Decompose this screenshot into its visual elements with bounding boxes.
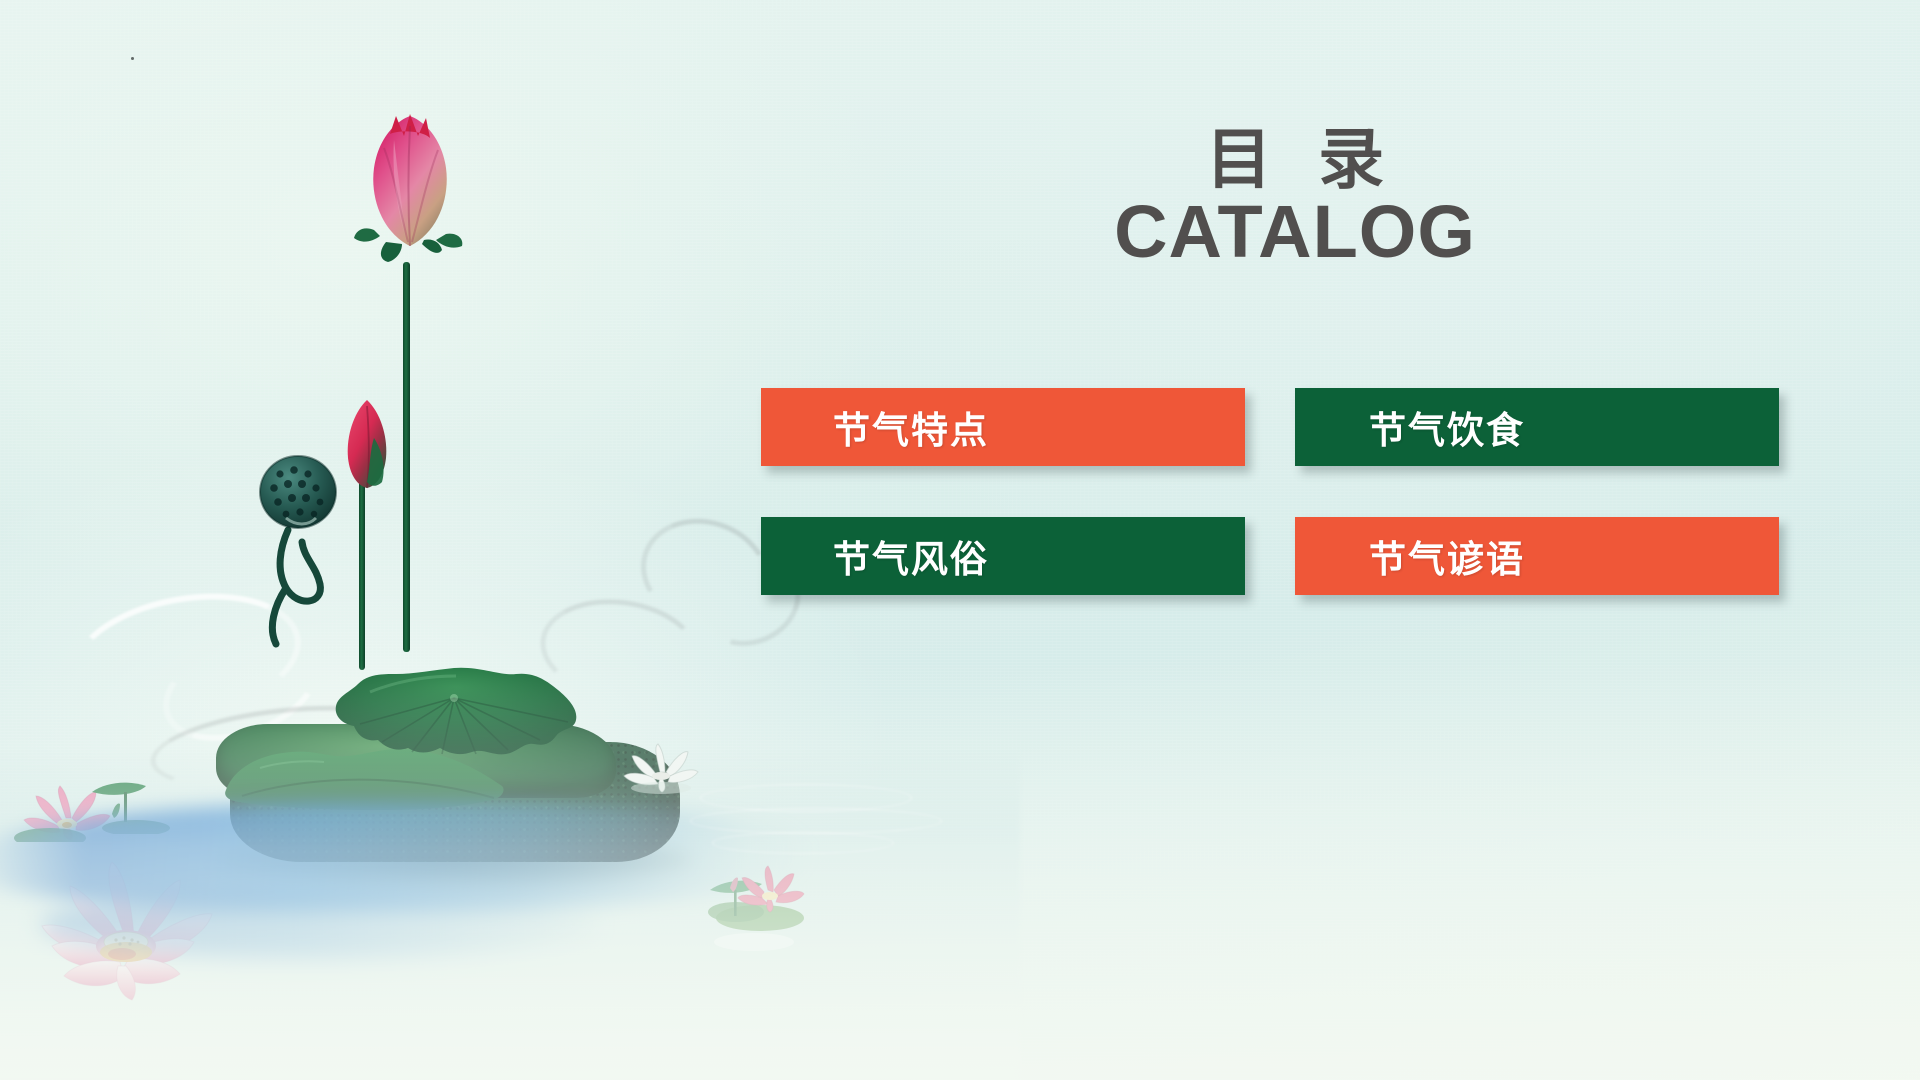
lotus-bud-tall-pink <box>350 110 470 280</box>
foreground-mist <box>0 660 1920 1080</box>
menu-item-jieqi-yinshi[interactable]: 节气饮食 <box>1295 388 1779 466</box>
menu-item-label: 节气风俗 <box>833 529 989 583</box>
page-title-en: CATALOG <box>740 195 1850 269</box>
water-ripple-3 <box>712 832 894 854</box>
menu-item-label: 节气谚语 <box>1369 529 1525 583</box>
catalog-menu: 节气特点 节气饮食 节气风俗 节气谚语 <box>761 388 1819 595</box>
lotus-bud-small-red <box>336 398 398 494</box>
menu-item-jieqi-yanyu[interactable]: 节气谚语 <box>1295 517 1779 595</box>
water-ripple-2 <box>690 808 942 834</box>
menu-item-label: 节气饮食 <box>1369 400 1525 454</box>
menu-item-jieqi-tedian[interactable]: 节气特点 <box>761 388 1245 466</box>
menu-item-label: 节气特点 <box>833 400 989 454</box>
stem-tall-lotus <box>403 262 410 652</box>
cursor-dot <box>131 57 134 60</box>
catalog-title-block: 目 录 CATALOG <box>740 126 1850 269</box>
menu-item-jieqi-fengsu[interactable]: 节气风俗 <box>761 517 1245 595</box>
page-title-cn: 目 录 <box>740 126 1850 193</box>
catalog-slide: 目 录 CATALOG 节气特点 节气饮食 节气风俗 节气谚语 <box>0 0 1920 1080</box>
